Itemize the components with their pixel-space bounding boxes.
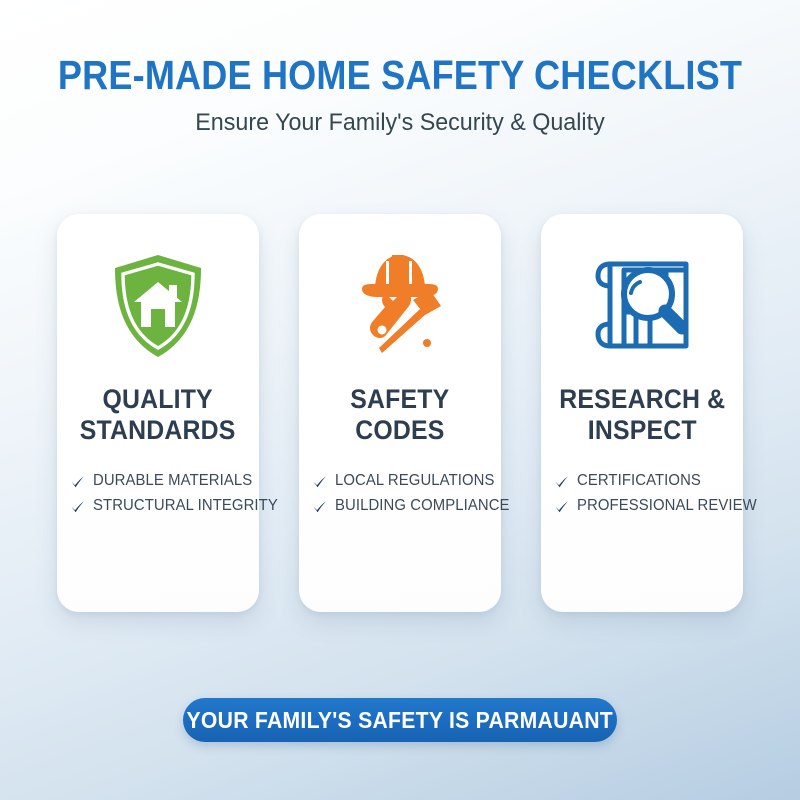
list-item: STRUCTURAL INTEGRITY xyxy=(70,497,259,515)
card-title: SAFETY CODES xyxy=(350,384,449,446)
card-title: QUALITY STANDARDS xyxy=(80,384,236,446)
header: PRE-MADE HOME SAFETY CHECKLIST Ensure Yo… xyxy=(0,52,800,138)
feature-list: DURABLE MATERIALS STRUCTURAL INTEGRITY xyxy=(57,472,259,522)
card-group: QUALITY STANDARDS DURABLE MATERIALS xyxy=(57,214,743,612)
card-safety-codes[interactable]: SAFETY CODES LOCAL REGULATIONS xyxy=(299,214,501,612)
list-item: DURABLE MATERIALS xyxy=(70,472,259,490)
check-icon xyxy=(312,474,327,489)
feature-label: STRUCTURAL INTEGRITY xyxy=(93,497,278,515)
feature-label: PROFESSIONAL REVIEW xyxy=(577,497,757,515)
check-icon xyxy=(70,499,85,514)
list-item: BUILDING COMPLIANCE xyxy=(312,497,501,515)
hardhat-tools-icon xyxy=(352,250,448,362)
list-item: LOCAL REGULATIONS xyxy=(312,472,501,490)
shield-home-icon xyxy=(110,250,206,362)
blueprint-magnifier-icon xyxy=(588,250,696,362)
check-icon xyxy=(70,474,85,489)
list-item: PROFESSIONAL REVIEW xyxy=(554,497,743,515)
feature-label: BUILDING COMPLIANCE xyxy=(335,497,510,515)
feature-label: LOCAL REGULATIONS xyxy=(335,472,495,490)
card-title: RESEARCH & INSPECT xyxy=(559,384,725,446)
card-quality-standards[interactable]: QUALITY STANDARDS DURABLE MATERIALS xyxy=(57,214,259,612)
poster-canvas: PRE-MADE HOME SAFETY CHECKLIST Ensure Yo… xyxy=(0,0,800,800)
footer-banner-label: YOUR FAMILY'S SAFETY IS PARMAUANT xyxy=(187,707,613,733)
feature-label: DURABLE MATERIALS xyxy=(93,472,252,490)
card-research-inspect[interactable]: RESEARCH & INSPECT CERTIFICATIONS xyxy=(541,214,743,612)
feature-list: CERTIFICATIONS PROFESSIONAL REVIEW xyxy=(541,472,743,522)
feature-label: CERTIFICATIONS xyxy=(577,472,701,490)
page-title: PRE-MADE HOME SAFETY CHECKLIST xyxy=(48,52,752,98)
check-icon xyxy=(554,474,569,489)
check-icon xyxy=(312,499,327,514)
footer-banner[interactable]: YOUR FAMILY'S SAFETY IS PARMAUANT xyxy=(183,698,617,742)
list-item: CERTIFICATIONS xyxy=(554,472,743,490)
feature-list: LOCAL REGULATIONS BUILDING COMPLIANCE xyxy=(299,472,501,522)
check-icon xyxy=(554,499,569,514)
page-subtitle: Ensure Your Family's Security & Quality xyxy=(12,108,788,138)
